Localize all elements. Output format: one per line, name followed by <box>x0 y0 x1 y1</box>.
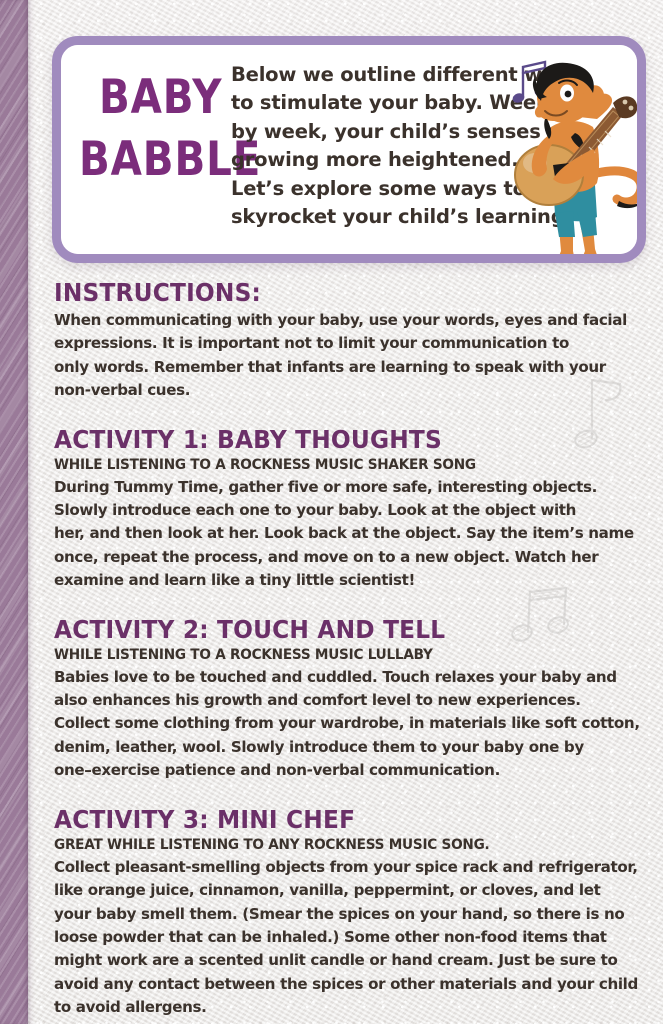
page-title: BABY BABBLE <box>79 67 242 191</box>
body-line: also enhances his growth and comfort lev… <box>54 689 634 712</box>
section-title-activity-3: ACTIVITY 3: MINI CHEF <box>54 805 605 835</box>
section-activity-1: ACTIVITY 1: BABY THOUGHTS WHILE LISTENIN… <box>54 425 634 593</box>
section-body-activity-2: Babies love to be touched and cuddled. T… <box>54 666 634 783</box>
section-subtitle-activity-3: GREAT WHILE LISTENING TO ANY ROCKNESS MU… <box>54 836 611 855</box>
section-title-instructions: INSTRUCTIONS: <box>54 278 605 308</box>
content-body: INSTRUCTIONS: When communicating with yo… <box>54 278 634 1020</box>
section-title-activity-1: ACTIVITY 1: BABY THOUGHTS <box>54 425 605 455</box>
body-line: denim, leather, wool. Slowly introduce t… <box>54 736 634 759</box>
section-activity-3: ACTIVITY 3: MINI CHEF GREAT WHILE LISTEN… <box>54 805 634 1020</box>
section-body-instructions: When communicating with your baby, use y… <box>54 309 634 403</box>
section-body-activity-3: Collect pleasant-smelling objects from y… <box>54 856 634 1020</box>
body-line: expressions. It is important not to limi… <box>54 332 634 355</box>
left-purple-spine <box>0 0 28 1024</box>
body-line: her, and then look at her. Look back at … <box>54 522 634 545</box>
body-line: like orange juice, cinnamon, vanilla, pe… <box>54 879 634 902</box>
body-line: your baby smell them. (Smear the spices … <box>54 903 634 926</box>
section-activity-2: ACTIVITY 2: TOUCH AND TELL WHILE LISTENI… <box>54 615 634 783</box>
body-line: Slowly introduce each one to your baby. … <box>54 499 634 522</box>
header-card: BABY BABBLE Below we outline different w… <box>52 36 646 263</box>
body-line: Collect some clothing from your wardrobe… <box>54 712 634 735</box>
music-notes-icon <box>505 57 595 117</box>
section-title-activity-2: ACTIVITY 2: TOUCH AND TELL <box>54 615 605 645</box>
body-line: examine and learn like a tiny little sci… <box>54 569 634 592</box>
body-line: When communicating with your baby, use y… <box>54 309 634 332</box>
brand-line-1: BABY <box>79 67 242 129</box>
body-line: to avoid allergens. <box>54 996 634 1019</box>
section-subtitle-activity-1: WHILE LISTENING TO A ROCKNESS MUSIC SHAK… <box>54 456 611 475</box>
section-subtitle-activity-2: WHILE LISTENING TO A ROCKNESS MUSIC LULL… <box>54 646 611 665</box>
body-line: one–exercise patience and non-verbal com… <box>54 759 634 782</box>
lede-line-4: growing more heightened. <box>231 146 561 174</box>
body-line: only words. Remember that infants are le… <box>54 356 634 379</box>
body-line: might work are a scented unlit candle or… <box>54 949 634 972</box>
lede-line-5: Let’s explore some ways to <box>231 175 561 203</box>
lede-line-3: by week, your child’s senses are <box>231 118 561 146</box>
section-instructions: INSTRUCTIONS: When communicating with yo… <box>54 278 634 403</box>
body-line: once, repeat the process, and move on to… <box>54 546 634 569</box>
lede-line-6: skyrocket your child’s learning! <box>231 203 561 231</box>
section-body-activity-1: During Tummy Time, gather five or more s… <box>54 476 634 593</box>
brand-line-2: BABBLE <box>79 129 242 191</box>
spine-shadow-edge <box>28 0 35 1024</box>
body-line: During Tummy Time, gather five or more s… <box>54 476 634 499</box>
body-line: Babies love to be touched and cuddled. T… <box>54 666 634 689</box>
body-line: Collect pleasant-smelling objects from y… <box>54 856 634 879</box>
body-line: avoid any contact between the spices or … <box>54 973 634 996</box>
body-line: non-verbal cues. <box>54 379 634 402</box>
body-line: loose powder that can be inhaled.) Some … <box>54 926 634 949</box>
header-card-inner: BABY BABBLE Below we outline different w… <box>61 45 637 254</box>
poster-page: BABY BABBLE Below we outline different w… <box>0 0 663 1024</box>
